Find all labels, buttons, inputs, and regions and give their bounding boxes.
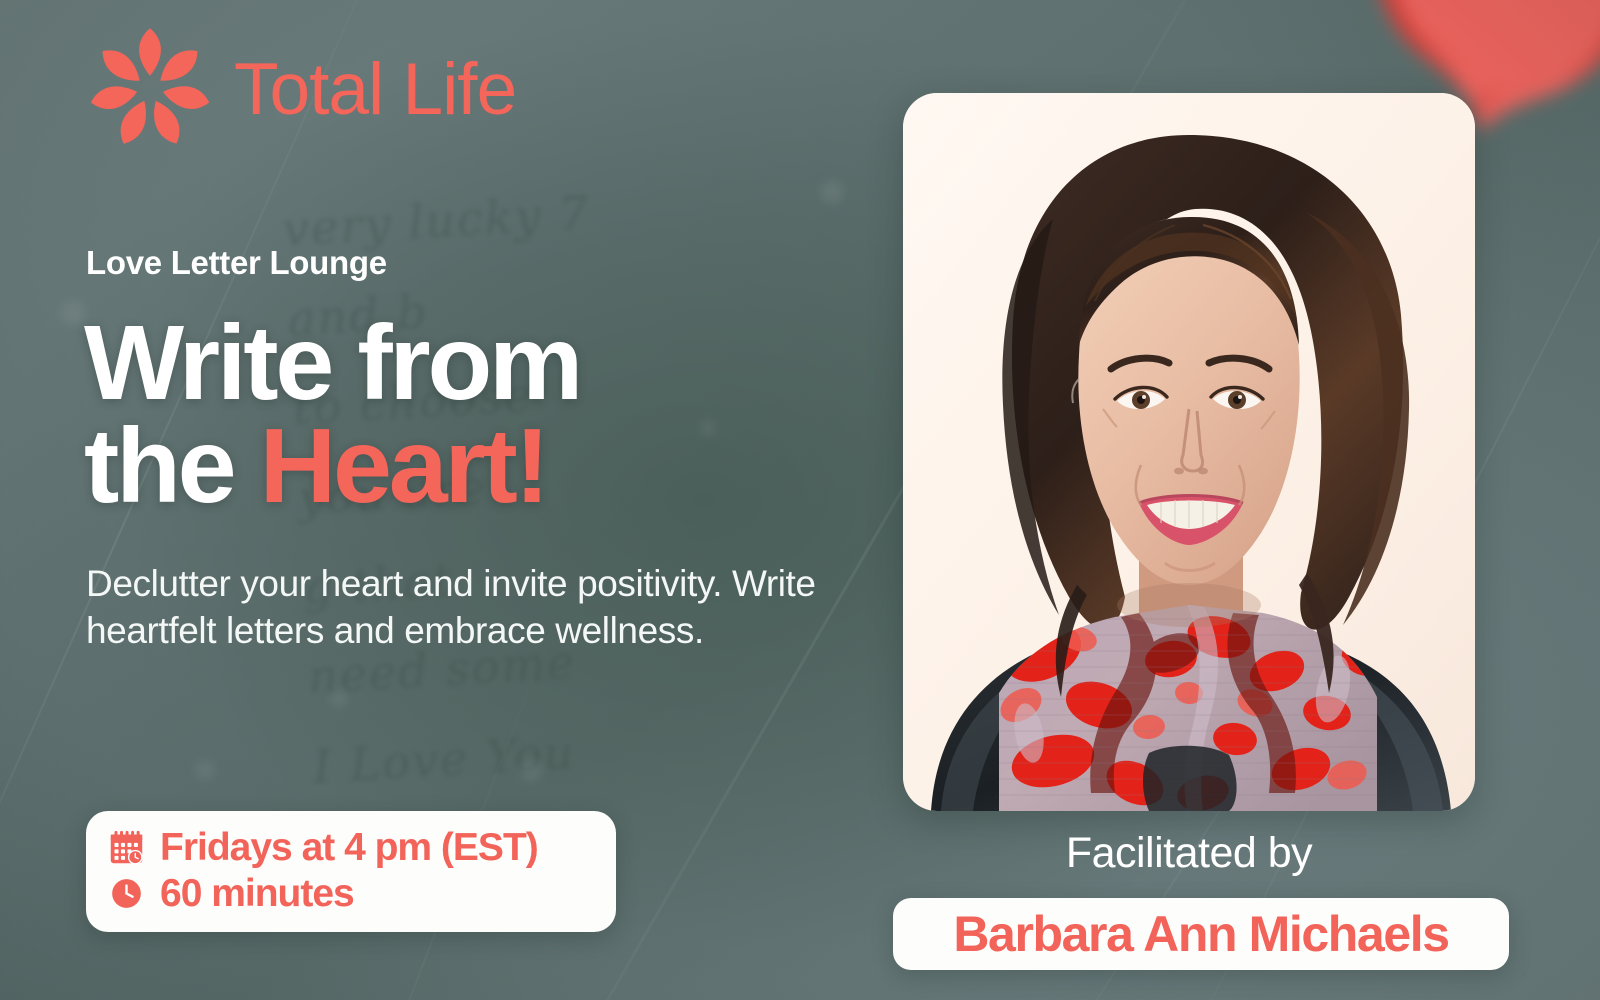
calendar-clock-icon xyxy=(108,829,145,866)
schedule-text: Fridays at 4 pm (EST) xyxy=(160,826,538,870)
program-name: Love Letter Lounge xyxy=(86,245,387,281)
clock-icon xyxy=(108,875,145,912)
facilitated-by-label: Facilitated by xyxy=(903,829,1475,877)
brand-logo[interactable]: Total Life xyxy=(84,23,516,155)
duration-text: 60 minutes xyxy=(160,872,354,916)
schedule-badge: Fridays at 4 pm (EST) 60 minutes xyxy=(86,811,616,932)
headline-line-1: Write from xyxy=(84,304,580,422)
facilitator-name-badge: Barbara Ann Michaels xyxy=(893,898,1509,970)
schedule-line-day-time: Fridays at 4 pm (EST) xyxy=(108,826,590,870)
flower-petal-logo-icon xyxy=(84,23,216,155)
schedule-line-duration: 60 minutes xyxy=(108,872,590,916)
facilitator-name: Barbara Ann Michaels xyxy=(953,909,1448,959)
headline-line-2-accent: Heart! xyxy=(260,407,547,525)
facilitator-portrait-card xyxy=(903,93,1475,811)
page-title: Write from the Heart! xyxy=(84,312,864,518)
brand-name: Total Life xyxy=(234,53,516,126)
description-text: Declutter your heart and invite positivi… xyxy=(86,560,846,655)
portrait-of-facilitator xyxy=(903,93,1475,811)
promo-poster: very lucky 7 and b to choose you are g t… xyxy=(0,0,1600,1000)
headline-line-2-plain: the xyxy=(84,407,260,525)
